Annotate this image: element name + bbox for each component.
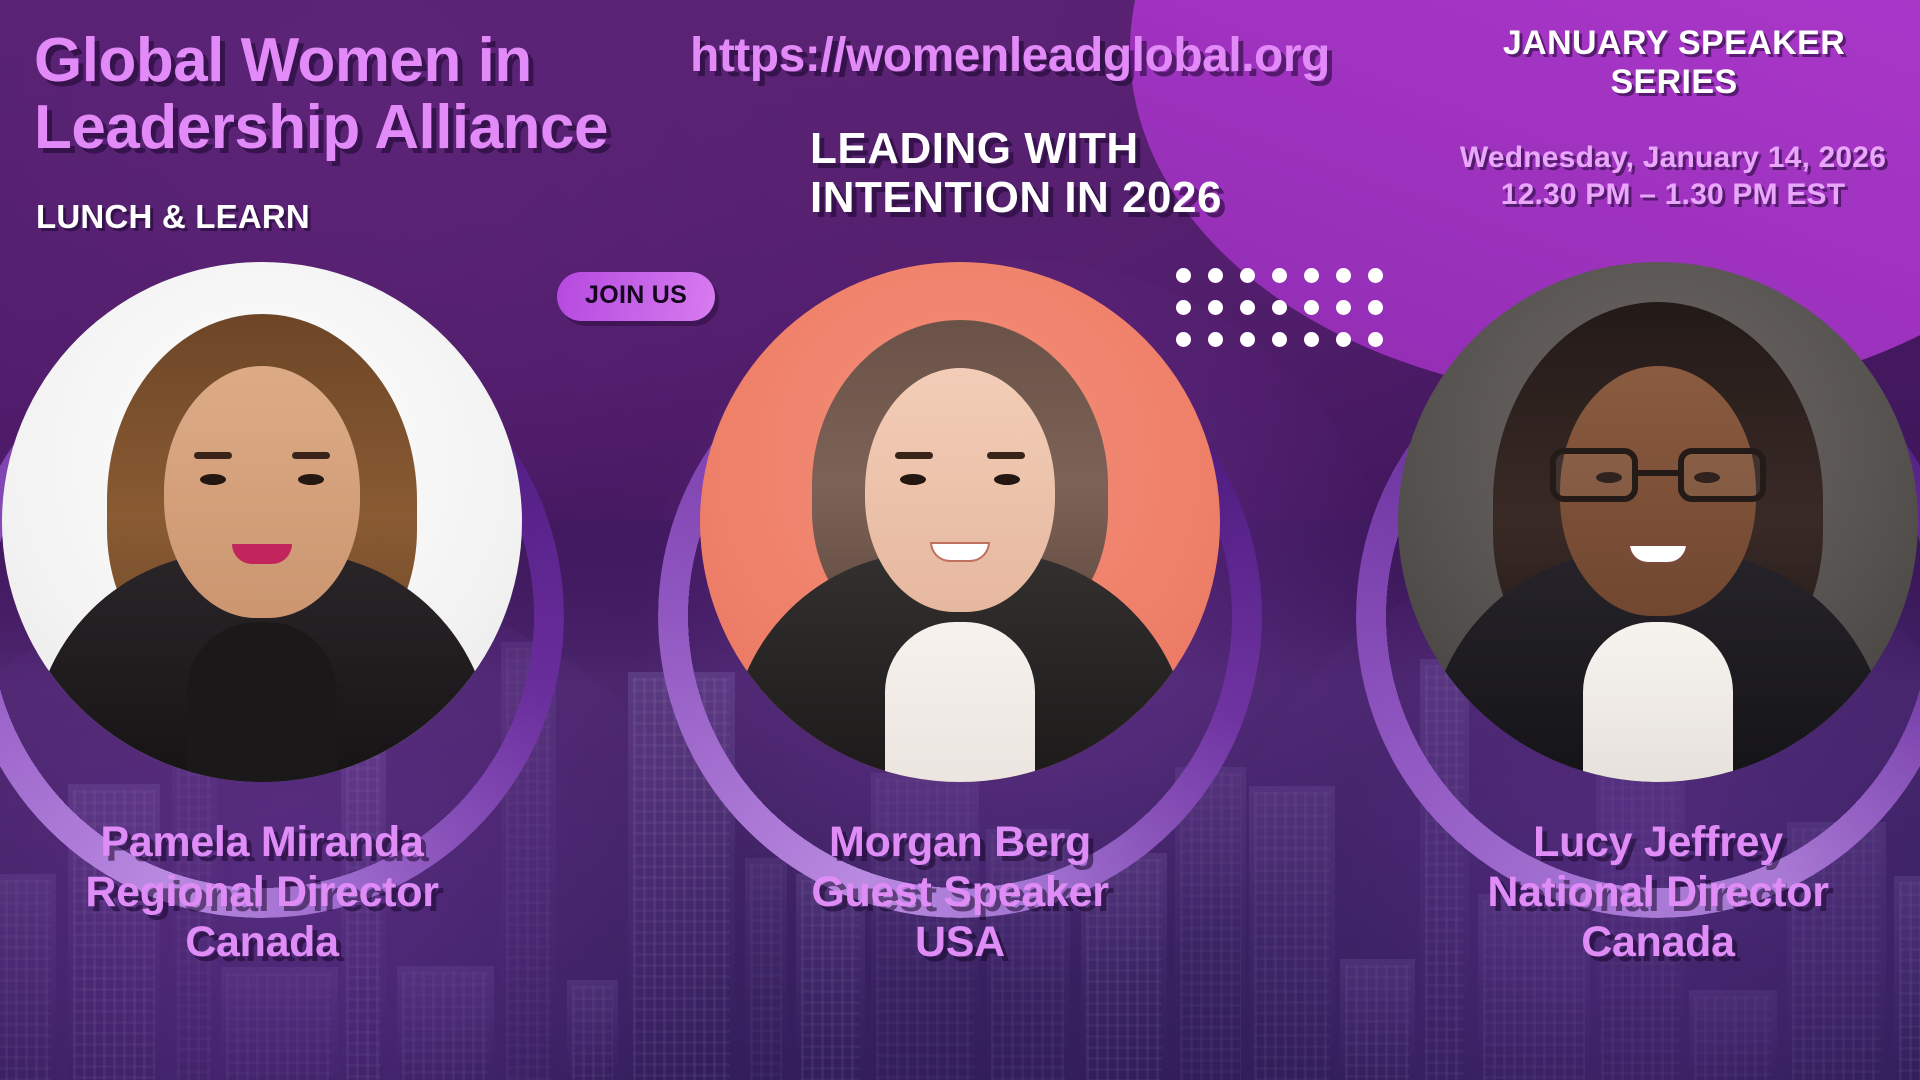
grid-dot — [1304, 268, 1319, 283]
speaker-role: Guest Speaker — [650, 868, 1270, 918]
eyeglasses-icon — [1550, 448, 1766, 502]
program-label: LUNCH & LEARN — [36, 198, 310, 236]
website-url[interactable]: https://womenleadglobal.org — [690, 28, 1410, 83]
glasses-bridge — [1638, 470, 1678, 476]
speaker-card: Lucy Jeffrey National Director Canada — [1348, 262, 1920, 822]
organization-title: Global Women in Leadership Alliance — [34, 28, 754, 162]
grid-dot — [1272, 300, 1287, 315]
portrait-shirt — [1583, 622, 1733, 782]
speaker-info: Morgan Berg Guest Speaker USA — [650, 818, 1270, 968]
speaker-series-title: JANUARY SPEAKER SERIES — [1454, 24, 1894, 103]
portrait-eye-left — [900, 474, 926, 485]
portrait-shirt — [885, 622, 1035, 782]
speaker-info: Lucy Jeffrey National Director Canada — [1348, 818, 1920, 968]
portrait-eye-right — [994, 474, 1020, 485]
speaker-info: Pamela Miranda Regional Director Canada — [0, 818, 572, 968]
glasses-lens-left — [1550, 448, 1638, 502]
event-datetime: Wednesday, January 14, 2026 12.30 PM – 1… — [1448, 140, 1898, 213]
event-theme: LEADING WITH INTENTION IN 2026 — [810, 124, 1330, 223]
speaker-role: Regional Director — [0, 868, 572, 918]
portrait-brow-right — [292, 452, 330, 459]
portrait-brow-right — [987, 452, 1025, 459]
event-date: Wednesday, January 14, 2026 — [1448, 140, 1898, 177]
speaker-portrait — [1398, 262, 1918, 782]
portrait-eye-left — [200, 474, 226, 485]
speaker-role: National Director — [1348, 868, 1920, 918]
flyer-canvas: Global Women in Leadership Alliance LUNC… — [0, 0, 1920, 1080]
portrait-face — [865, 368, 1055, 612]
speaker-country: Canada — [1348, 918, 1920, 968]
portrait-brow-left — [895, 452, 933, 459]
speaker-portrait — [700, 262, 1220, 782]
portrait-brow-left — [194, 452, 232, 459]
glasses-lens-right — [1678, 448, 1766, 502]
speaker-name: Pamela Miranda — [0, 818, 572, 868]
speaker-name: Morgan Berg — [650, 818, 1270, 868]
grid-dot — [1272, 332, 1287, 347]
speaker-country: Canada — [0, 918, 572, 968]
speaker-country: USA — [650, 918, 1270, 968]
speaker-card: Pamela Miranda Regional Director Canada — [0, 262, 572, 822]
grid-dot — [1272, 268, 1287, 283]
speaker-card: Morgan Berg Guest Speaker USA — [650, 262, 1270, 822]
speaker-portrait — [2, 262, 522, 782]
grid-dot — [1304, 300, 1319, 315]
portrait-face — [164, 366, 360, 618]
event-time: 12.30 PM – 1.30 PM EST — [1448, 177, 1898, 214]
portrait-shirt — [187, 622, 337, 782]
speaker-name: Lucy Jeffrey — [1348, 818, 1920, 868]
portrait-eye-right — [298, 474, 324, 485]
grid-dot — [1304, 332, 1319, 347]
